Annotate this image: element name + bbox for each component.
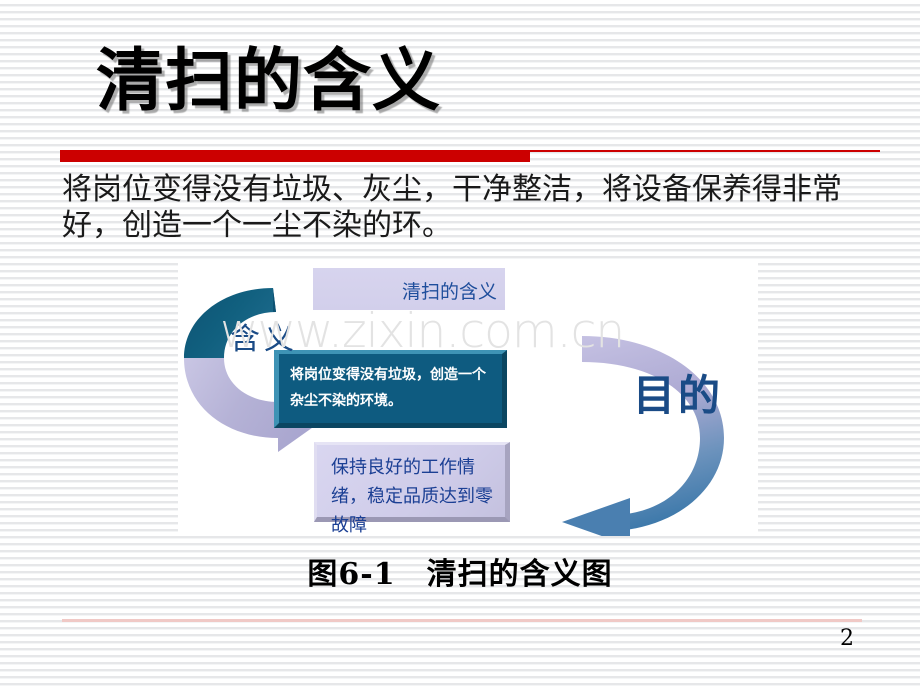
figure-caption: 图6-1 清扫的含义图 xyxy=(0,549,920,593)
right-arrow-head xyxy=(562,498,630,536)
page-number: 2 xyxy=(840,626,880,651)
diagram-box-bottom-label: 保持良好的工作情绪，稳定品质达到零故障 xyxy=(331,453,501,536)
diagram-box-top-label: 清扫的含义 xyxy=(402,277,497,304)
diagram-box-top: 清扫的含义 xyxy=(313,268,505,310)
title-divider xyxy=(60,150,880,162)
page-title: 清扫的含义 xyxy=(96,48,816,116)
body-paragraph: 将岗位变得没有垃圾、灰尘，干净整洁，将设备保养得非常好，创造一个一尘不染的环。 xyxy=(62,172,872,244)
left-arrow-label: 含义 xyxy=(230,314,298,358)
left-arrow-upper-cap xyxy=(273,288,276,312)
diagram-box-center: 将岗位变得没有垃圾，创造一个杂尘不染的环境。 xyxy=(274,350,507,428)
right-arrow-label: 目的 xyxy=(633,362,723,423)
slide-canvas: 清扫的含义 将岗位变得没有垃圾、灰尘，干净整洁，将设备保养得非常好，创造一个一尘… xyxy=(0,0,920,690)
diagram-box-bottom: 保持良好的工作情绪，稳定品质达到零故障 xyxy=(314,442,510,522)
footer-divider xyxy=(62,619,862,622)
title-divider-thick-bar xyxy=(60,151,530,162)
figure-diagram: www.zixin.com.cn 清扫的含义 将岗位变得没有垃圾，创造一个杂尘不… xyxy=(178,262,758,536)
diagram-box-center-label: 将岗位变得没有垃圾，创造一个杂尘不染的环境。 xyxy=(290,362,498,414)
